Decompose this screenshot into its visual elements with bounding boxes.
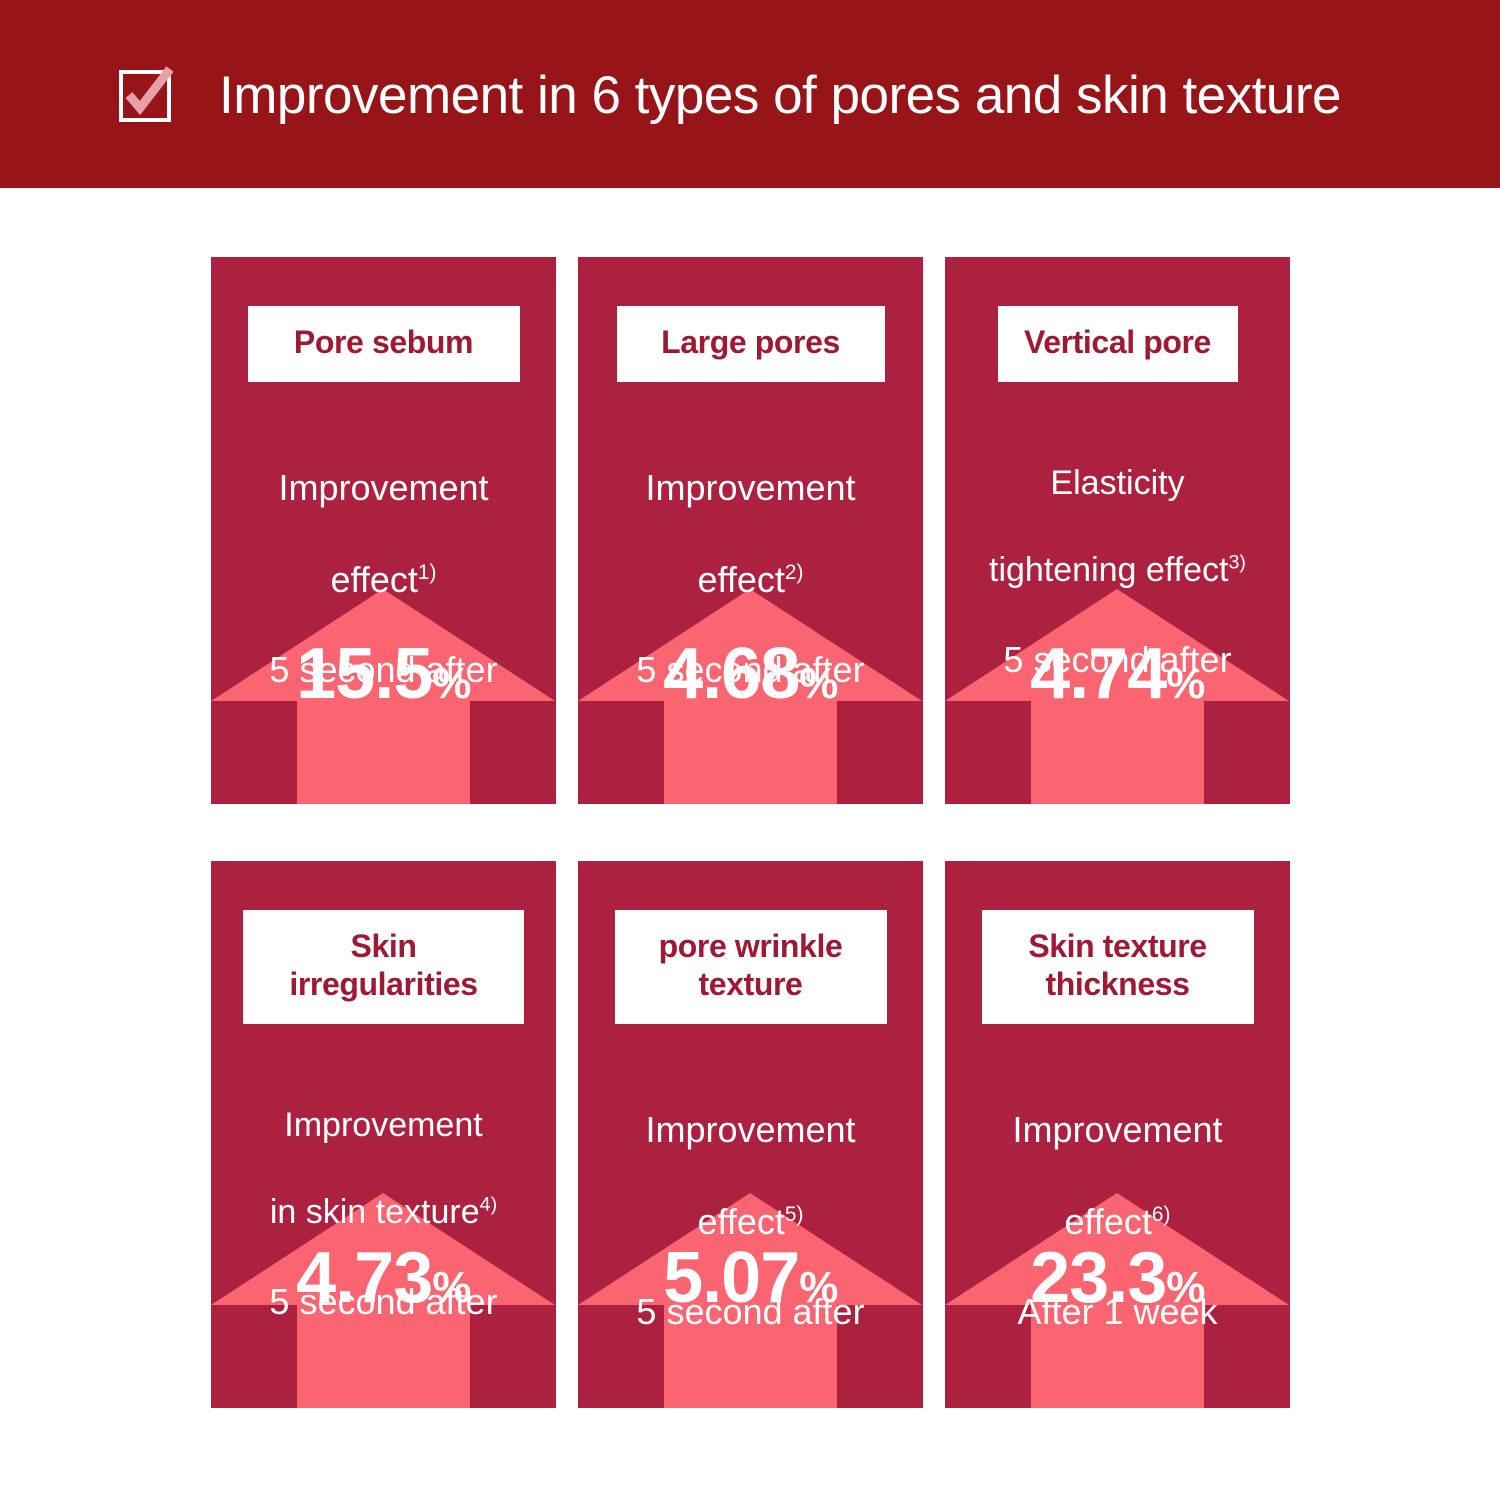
metric-description-line2: effect bbox=[331, 559, 418, 600]
header-content: Improvement in 6 types of pores and skin… bbox=[115, 64, 1341, 126]
metric-description-line1: Elasticity bbox=[1050, 464, 1184, 502]
metric-value-number: 23.3 bbox=[1030, 1238, 1166, 1318]
header-band: Improvement in 6 types of pores and skin… bbox=[0, 0, 1500, 188]
footnote-marker: 6) bbox=[1152, 1203, 1171, 1226]
metric-label: Skin irregularities bbox=[243, 910, 524, 1024]
metric-description: Improvement effect1) bbox=[272, 419, 494, 603]
metric-description-line2: effect bbox=[698, 1201, 785, 1242]
page-title: Improvement in 6 types of pores and skin… bbox=[219, 65, 1341, 126]
metrics-grid: Pore sebum Improvement effect1) 5 second… bbox=[211, 257, 1290, 1408]
metric-card-pore-sebum: Pore sebum Improvement effect1) 5 second… bbox=[211, 257, 556, 804]
metric-card-skin-texture-thickness: Skin texture thickness Improvement effec… bbox=[945, 861, 1290, 1408]
metric-value-unit: % bbox=[432, 659, 471, 708]
metric-label: Skin texture thickness bbox=[982, 910, 1254, 1024]
metric-description-line2: in skin texture bbox=[270, 1193, 480, 1231]
metric-description-line1: Improvement bbox=[284, 1106, 482, 1144]
metric-label: Large pores bbox=[617, 306, 885, 382]
metric-card-skin-irregularities: Skin irregularities Improvement in skin … bbox=[211, 861, 556, 1408]
metric-description-line2: tightening effect bbox=[989, 551, 1228, 589]
metric-label: Vertical pore bbox=[998, 306, 1238, 382]
metric-description: Elasticity tightening effect3) bbox=[983, 419, 1252, 593]
footnote-marker: 5) bbox=[785, 1203, 804, 1226]
metric-card-vertical-pore: Vertical pore Elasticity tightening effe… bbox=[945, 257, 1290, 804]
metric-description: Improvement effect2) bbox=[639, 419, 861, 603]
metric-description: Improvement effect6) bbox=[1006, 1061, 1228, 1245]
metric-label: pore wrinkle texture bbox=[615, 910, 887, 1024]
metric-card-pore-wrinkle-texture: pore wrinkle texture Improvement effect5… bbox=[578, 861, 923, 1408]
metric-label: Pore sebum bbox=[248, 306, 520, 382]
metric-description-line1: Improvement bbox=[645, 1109, 855, 1150]
metric-value: 4.74% bbox=[945, 638, 1290, 710]
metric-value-unit: % bbox=[432, 1263, 471, 1312]
metric-card-large-pores: Large pores Improvement effect2) 5 secon… bbox=[578, 257, 923, 804]
metric-value: 5.07% bbox=[578, 1242, 923, 1314]
footnote-marker: 4) bbox=[480, 1194, 498, 1216]
metric-value-number: 4.68 bbox=[663, 634, 799, 714]
metric-value-unit: % bbox=[1166, 659, 1205, 708]
metric-value: 23.3% bbox=[945, 1242, 1290, 1314]
metric-description-line2: effect bbox=[698, 559, 785, 600]
metric-value: 4.68% bbox=[578, 638, 923, 710]
footnote-marker: 1) bbox=[418, 561, 437, 584]
metric-value-number: 4.73 bbox=[296, 1238, 432, 1318]
metric-value-number: 15.5 bbox=[296, 634, 432, 714]
metric-description: Improvement effect5) bbox=[639, 1061, 861, 1245]
metric-value-unit: % bbox=[1166, 1263, 1205, 1312]
footnote-marker: 3) bbox=[1228, 552, 1246, 574]
checkbox-checked-icon bbox=[115, 64, 177, 126]
footnote-marker: 2) bbox=[785, 561, 804, 584]
metric-value-unit: % bbox=[799, 1263, 838, 1312]
metric-description-line1: Improvement bbox=[278, 467, 488, 508]
metric-value-unit: % bbox=[799, 659, 838, 708]
metric-description-line1: Improvement bbox=[645, 467, 855, 508]
metric-value: 15.5% bbox=[211, 638, 556, 710]
metric-value-number: 5.07 bbox=[663, 1238, 799, 1318]
metric-description-line1: Improvement bbox=[1012, 1109, 1222, 1150]
metric-description: Improvement in skin texture4) bbox=[264, 1061, 503, 1235]
metric-value: 4.73% bbox=[211, 1242, 556, 1314]
metric-description-line2: effect bbox=[1065, 1201, 1152, 1242]
metric-value-number: 4.74 bbox=[1030, 634, 1166, 714]
